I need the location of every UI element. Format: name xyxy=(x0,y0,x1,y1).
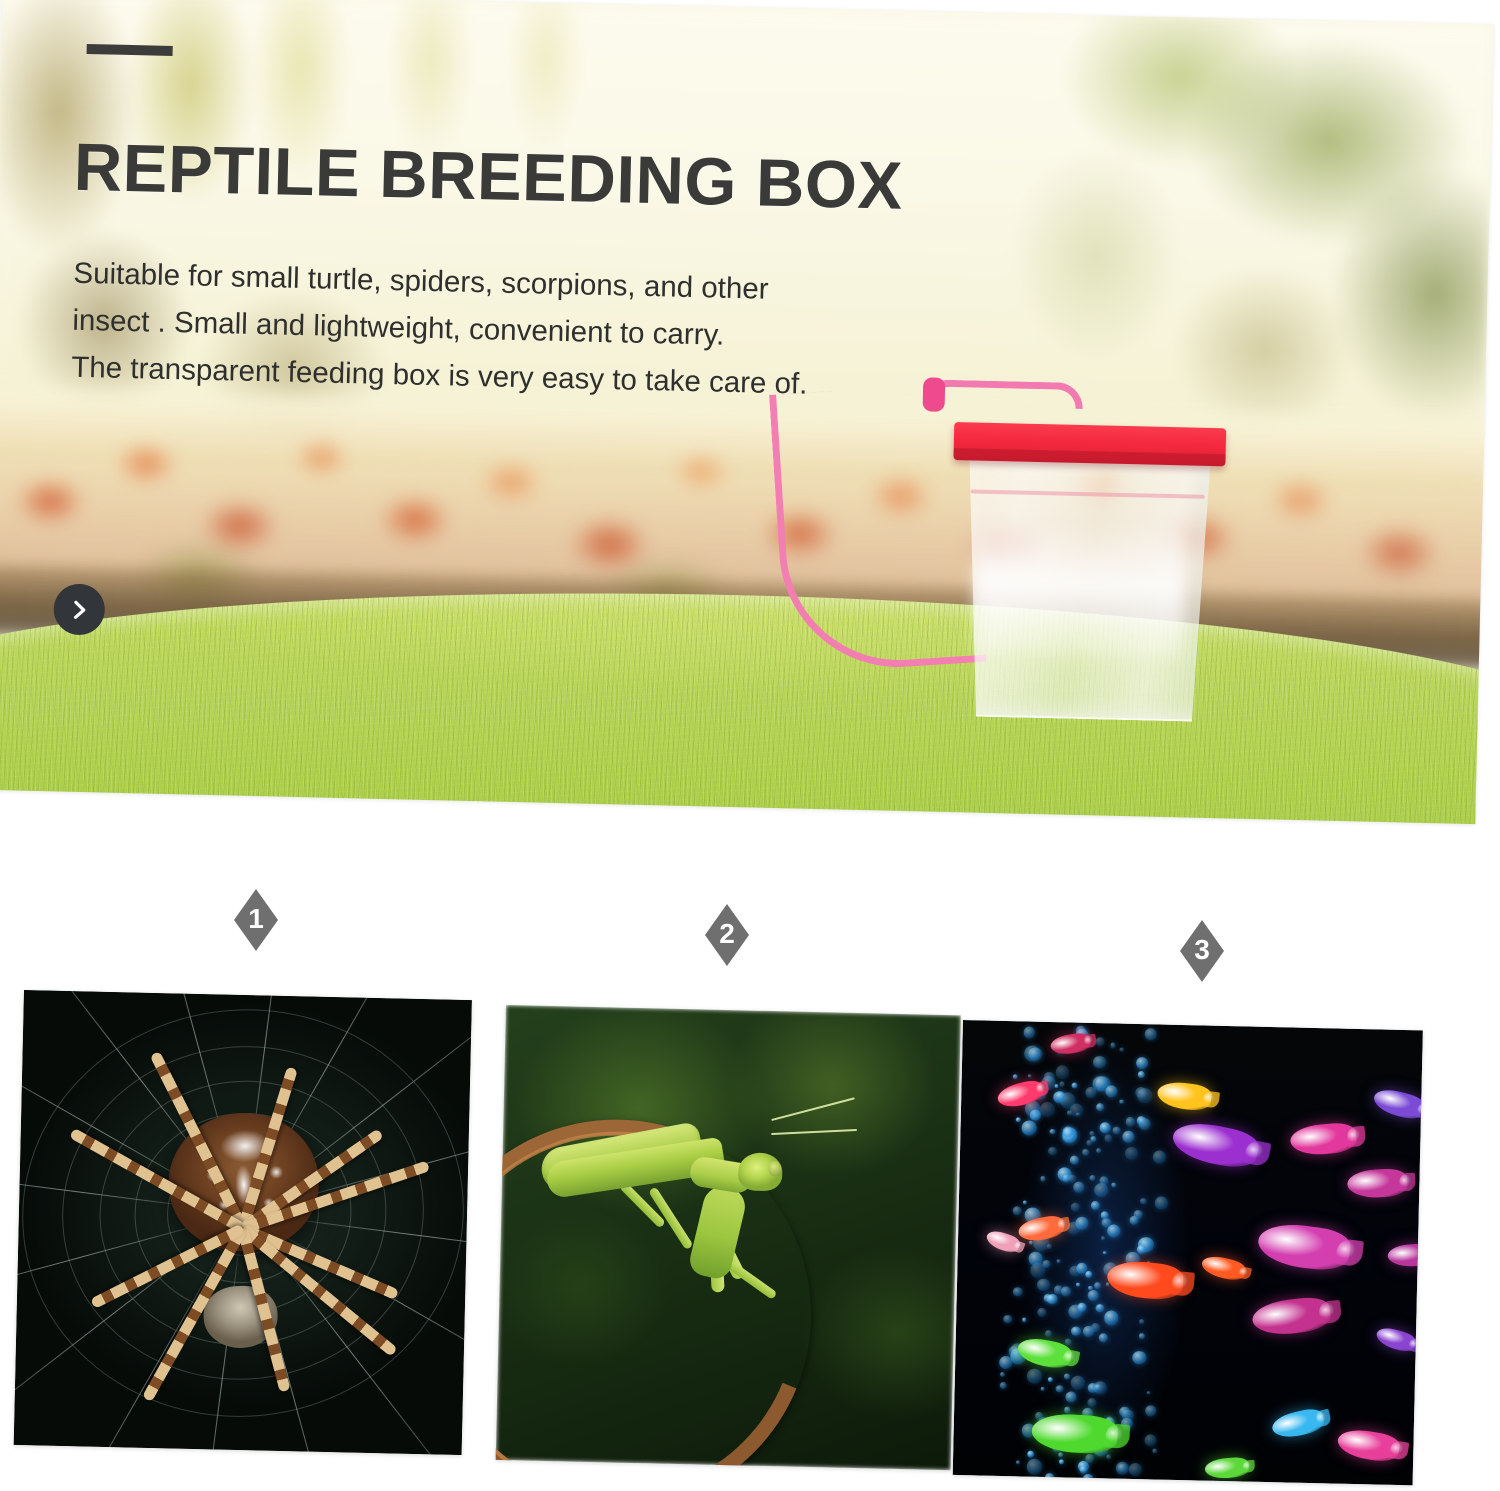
bubble xyxy=(1094,1282,1101,1289)
gallery-badge-2-label: 2 xyxy=(719,920,735,948)
bubble xyxy=(1040,1176,1045,1181)
bubble xyxy=(1040,1101,1055,1116)
bubble xyxy=(1013,1074,1018,1079)
gallery-badge-2: 2 xyxy=(705,904,749,966)
bubble xyxy=(1048,1377,1053,1382)
bubble xyxy=(1029,1241,1033,1245)
bubble xyxy=(1093,1056,1106,1069)
hero-banner-card: REPTILE BREEDING BOX Suitable for small … xyxy=(0,0,1494,824)
bubble xyxy=(1139,1320,1143,1324)
bubble xyxy=(1085,1271,1092,1278)
bubble xyxy=(1104,1310,1119,1325)
bubble xyxy=(1022,1121,1037,1136)
bubble xyxy=(1016,1118,1021,1123)
bubble xyxy=(1023,1200,1027,1204)
bubble xyxy=(1073,1182,1084,1193)
hero-banner: REPTILE BREEDING BOX Suitable for small … xyxy=(0,0,1500,850)
chevron-right-icon xyxy=(68,598,91,621)
bubble xyxy=(1022,1318,1026,1322)
gallery-badge-3-label: 3 xyxy=(1194,936,1210,964)
bubble xyxy=(1028,1074,1031,1077)
bubble xyxy=(1082,1149,1089,1156)
bubble xyxy=(1091,1201,1100,1210)
bubble xyxy=(1125,1146,1138,1159)
gallery-photo-mantis xyxy=(496,1005,961,1470)
bubble xyxy=(1047,1244,1052,1249)
bubble xyxy=(1136,1116,1145,1125)
bubble xyxy=(1096,1103,1105,1112)
bubble xyxy=(1056,1385,1064,1393)
bubble xyxy=(1122,1130,1134,1142)
bubble xyxy=(1110,1042,1116,1048)
bubble xyxy=(1103,1251,1106,1254)
bubble xyxy=(1129,1463,1143,1477)
bubble xyxy=(1153,1151,1166,1164)
hero-description: Suitable for small turtle, spiders, scor… xyxy=(71,250,934,411)
gallery-photo-spider xyxy=(14,990,472,1455)
bubble xyxy=(1083,1474,1094,1485)
bubble xyxy=(1041,1387,1045,1391)
bubble xyxy=(1056,1259,1060,1263)
bubble xyxy=(1076,1112,1079,1115)
bubble xyxy=(1000,1372,1006,1378)
bubble xyxy=(1118,1463,1126,1471)
bubble xyxy=(1152,1448,1158,1454)
bubble xyxy=(1137,1245,1147,1255)
gallery-badge-3: 3 xyxy=(1180,920,1224,982)
bubble xyxy=(1003,1315,1012,1324)
bubble xyxy=(1071,1326,1080,1335)
bubble xyxy=(1125,1117,1135,1127)
bubble xyxy=(1107,1224,1121,1238)
bubble xyxy=(1092,1076,1107,1091)
bubble xyxy=(1072,1083,1078,1089)
bubble xyxy=(1105,1085,1117,1097)
bubble xyxy=(1029,1252,1043,1266)
bubble xyxy=(1028,1047,1042,1061)
bubble xyxy=(1100,1123,1111,1134)
bubble xyxy=(1065,1338,1072,1345)
bubble xyxy=(1096,1037,1105,1046)
bubble xyxy=(1087,1290,1098,1301)
bubble xyxy=(1044,1473,1055,1484)
bubble xyxy=(1111,1182,1117,1188)
bubble xyxy=(1129,1216,1138,1225)
bubble xyxy=(1027,1369,1042,1384)
bubble xyxy=(999,1356,1012,1369)
bubble xyxy=(1145,1405,1156,1416)
bubble xyxy=(1064,1407,1070,1413)
bubble xyxy=(1055,1065,1069,1079)
bubble xyxy=(1144,1434,1157,1447)
bubble xyxy=(1144,1028,1156,1040)
bubble xyxy=(1026,1459,1042,1475)
bubble xyxy=(1045,1329,1052,1336)
hero-accent-dash xyxy=(87,44,173,56)
bubble xyxy=(1136,1057,1149,1070)
bubble xyxy=(1047,1294,1058,1305)
bubble xyxy=(1079,1466,1087,1474)
bubble xyxy=(1085,1454,1094,1463)
bubble xyxy=(1013,1206,1022,1215)
bubble xyxy=(1094,1183,1108,1197)
bubble xyxy=(1139,1333,1145,1339)
bubble xyxy=(1146,1391,1150,1395)
gallery-badge-1: 1 xyxy=(234,889,278,951)
bubble xyxy=(1098,1333,1107,1342)
bubble xyxy=(1037,1307,1046,1316)
bubble xyxy=(1059,1460,1064,1465)
gallery-badge-1-label: 1 xyxy=(248,905,264,933)
bubble xyxy=(1140,1198,1147,1205)
bubble xyxy=(1112,1126,1120,1134)
bubble xyxy=(1042,1260,1050,1268)
bubble xyxy=(1013,1287,1023,1297)
bubble xyxy=(1138,1071,1145,1078)
bubble xyxy=(1048,1147,1057,1156)
bubble xyxy=(1137,1088,1152,1103)
bubble xyxy=(1155,1197,1168,1210)
bubble xyxy=(1065,1392,1076,1403)
bubble xyxy=(1067,1111,1072,1116)
bubble xyxy=(1095,1384,1101,1390)
bubble xyxy=(1071,1376,1085,1390)
bubble xyxy=(1089,1131,1094,1136)
bubble xyxy=(1120,1100,1124,1104)
bubble xyxy=(1078,1303,1087,1312)
bubble xyxy=(1071,1203,1080,1212)
bubble xyxy=(1016,1460,1020,1464)
bubble xyxy=(1064,1374,1070,1380)
bubble xyxy=(1050,1129,1055,1134)
bubble xyxy=(1058,1452,1063,1457)
bubble xyxy=(1086,1140,1092,1146)
bubble xyxy=(1090,1175,1096,1181)
bubble xyxy=(1070,1156,1079,1165)
bubble xyxy=(1102,1236,1106,1240)
bubble xyxy=(1083,1326,1094,1337)
bubble xyxy=(1069,1266,1080,1277)
bubble xyxy=(1120,1048,1124,1052)
bubble xyxy=(1087,1398,1096,1407)
bubble xyxy=(1027,1450,1034,1457)
bubble xyxy=(1105,1134,1113,1142)
bubble xyxy=(1076,1283,1080,1287)
bubble xyxy=(1000,1382,1007,1389)
bubble xyxy=(1037,1278,1050,1291)
bubble xyxy=(1023,1027,1034,1038)
bubble xyxy=(1054,1285,1063,1294)
bubble xyxy=(1059,1082,1065,1088)
gallery-photo-glofish xyxy=(953,1020,1423,1485)
bubble xyxy=(1096,1148,1102,1154)
bubble xyxy=(1106,1454,1111,1459)
bubble xyxy=(1132,1350,1146,1364)
